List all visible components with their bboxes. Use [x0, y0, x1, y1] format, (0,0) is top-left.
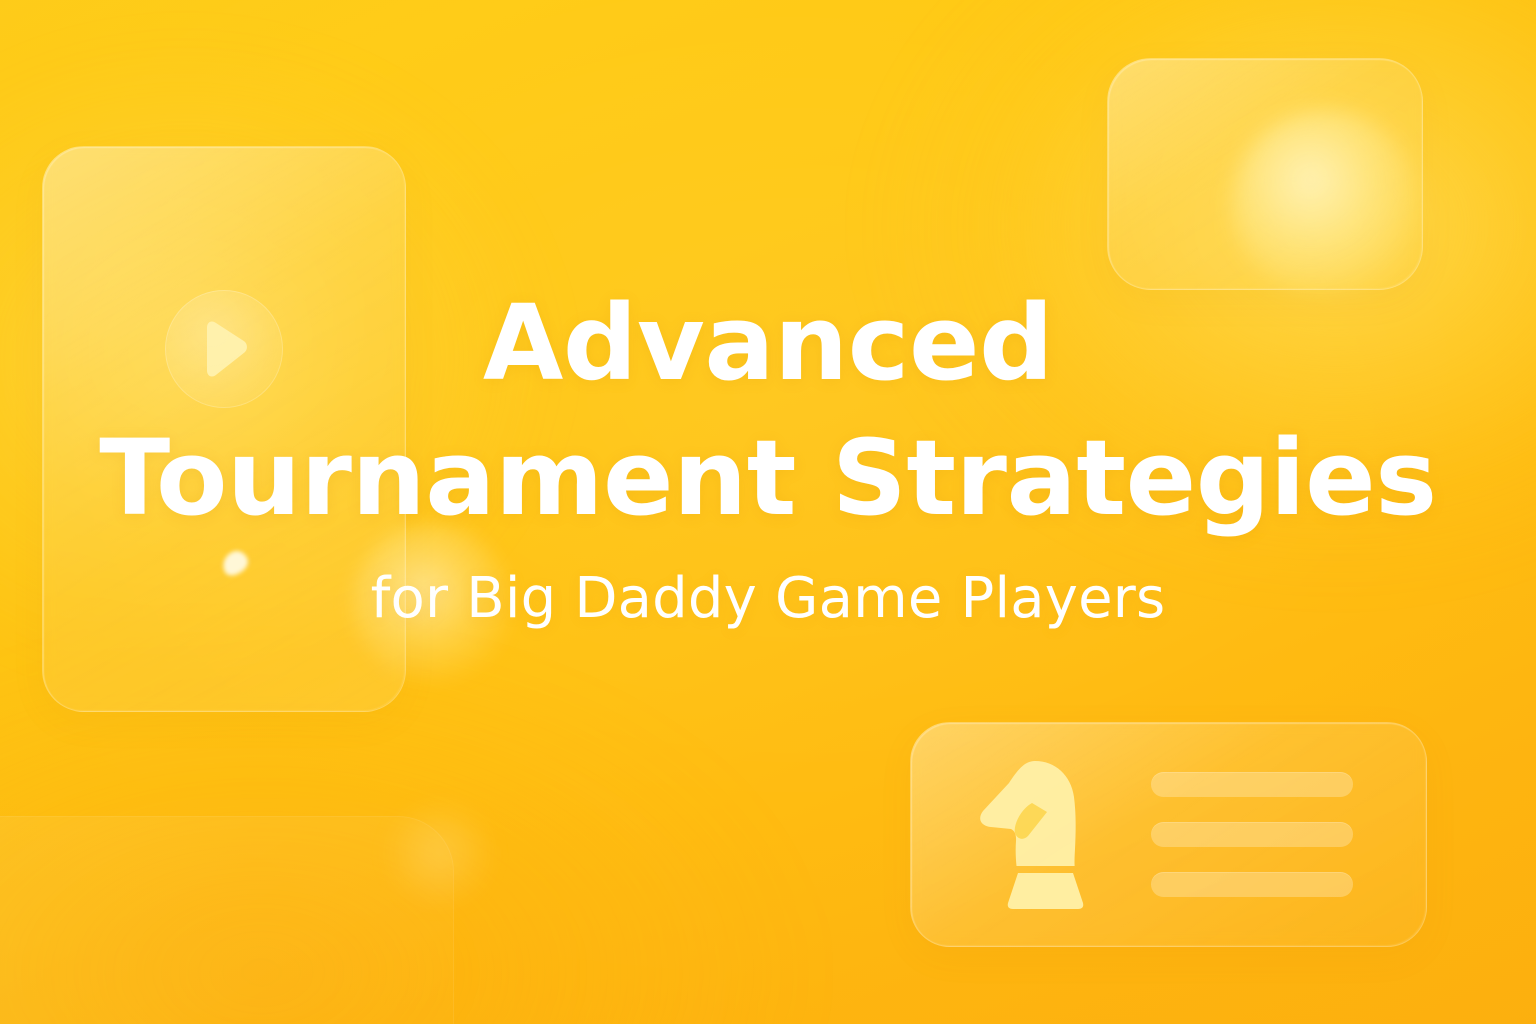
page-title: Advanced Tournament Strategies: [0, 276, 1536, 546]
glow-orb: [1232, 109, 1418, 295]
placeholder-bar: [1151, 772, 1353, 797]
placeholder-bar: [1151, 822, 1353, 847]
headline-block: Advanced Tournament Strategies for Big D…: [0, 276, 1536, 634]
page-subtitle: for Big Daddy Game Players: [0, 564, 1536, 634]
light-flare-small: [392, 806, 488, 902]
profile-card[interactable]: [910, 722, 1427, 947]
placeholder-bar: [1151, 872, 1353, 897]
hero-banner: Advanced Tournament Strategies for Big D…: [0, 0, 1536, 1024]
panel-card[interactable]: [1107, 58, 1423, 290]
placeholder-text-bars: [1151, 772, 1353, 897]
chess-knight-icon: [971, 757, 1095, 912]
decor-ghost-rectangle: [0, 816, 454, 1024]
